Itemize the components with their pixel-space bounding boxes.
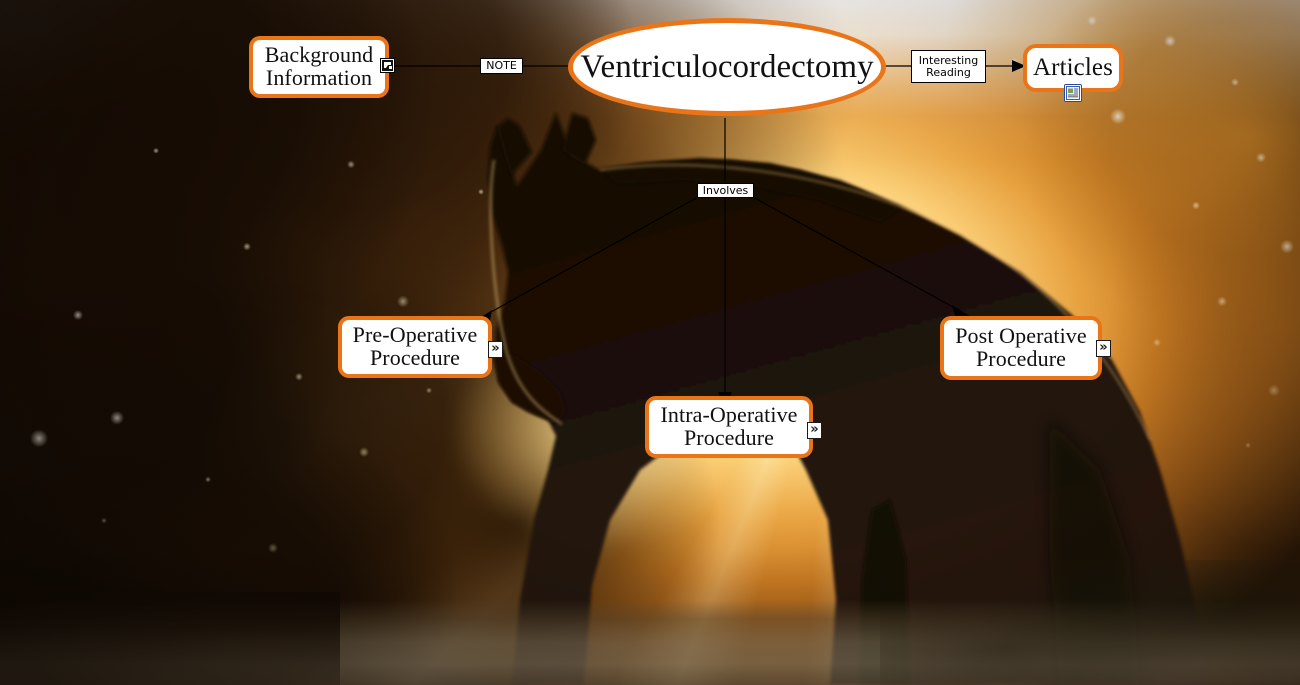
node-label-line-1: Intra-Operative bbox=[660, 404, 797, 427]
chevron-glyph: » bbox=[810, 423, 818, 436]
mindmap-canvas: NOTE Interesting Reading Involves Ventri… bbox=[0, 0, 1300, 685]
edge-label-involves[interactable]: Involves bbox=[697, 183, 754, 198]
node-intra-operative-procedure[interactable]: Intra-Operative Procedure bbox=[645, 396, 813, 458]
note-icon[interactable] bbox=[380, 58, 395, 73]
central-topic-ventriculocordectomy[interactable]: Ventriculocordectomy bbox=[568, 18, 886, 116]
node-label-line-1: Pre-Operative bbox=[353, 324, 478, 347]
node-post-operative-procedure[interactable]: Post Operative Procedure bbox=[940, 316, 1102, 380]
chevron-glyph: » bbox=[1099, 341, 1107, 354]
node-pre-operative-procedure[interactable]: Pre-Operative Procedure bbox=[338, 316, 492, 378]
node-background-information[interactable]: Background Information bbox=[249, 36, 389, 98]
node-label-line-2: Procedure bbox=[976, 348, 1066, 371]
node-label-line-1: Background bbox=[265, 44, 374, 67]
node-label-line-1: Post Operative bbox=[955, 325, 1087, 348]
edge-label-interesting-reading[interactable]: Interesting Reading bbox=[911, 50, 986, 83]
expand-chevron-icon[interactable]: » bbox=[1096, 340, 1111, 357]
article-document-icon[interactable] bbox=[1064, 84, 1082, 102]
edge-label-note[interactable]: NOTE bbox=[480, 58, 523, 74]
expand-chevron-icon[interactable]: » bbox=[807, 422, 822, 439]
central-topic-label: Ventriculocordectomy bbox=[580, 49, 873, 86]
chevron-glyph: » bbox=[491, 342, 499, 355]
node-label-line-2: Procedure bbox=[370, 347, 460, 370]
edge-label-line-2: Reading bbox=[926, 67, 971, 79]
node-label-articles: Articles bbox=[1033, 55, 1113, 81]
node-label-line-2: Information bbox=[266, 67, 372, 90]
expand-chevron-icon[interactable]: » bbox=[488, 341, 503, 358]
node-label-line-2: Procedure bbox=[684, 427, 774, 450]
edge-label-line-1: Interesting bbox=[919, 55, 978, 67]
